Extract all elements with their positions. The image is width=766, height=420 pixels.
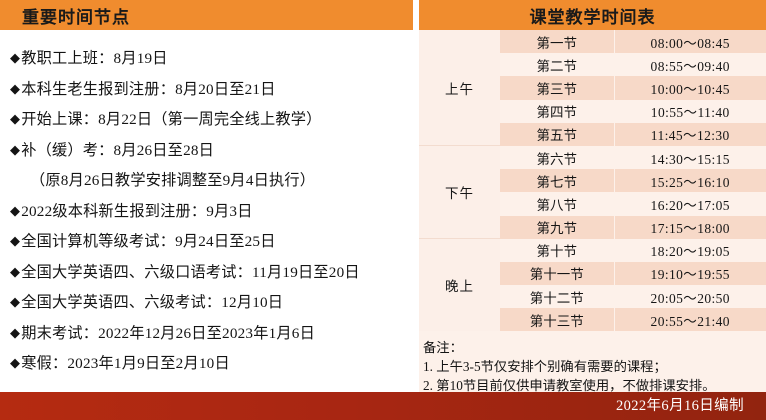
timeline-item-label: 教职工上班：8月19日 [21, 50, 167, 67]
schedule-period-label: 第九节 [500, 216, 614, 239]
timeline-item: ◆开始上课：8月22日（第一周完全线上教学） [10, 105, 413, 136]
timeline-item: ◆教职工上班：8月19日 [10, 44, 413, 75]
diamond-bullet-icon: ◆ [10, 325, 21, 340]
timeline-item: ◆2022级本科新生报到注册：9月3日 [10, 197, 413, 228]
timeline-item-label: 全国大学英语四、六级考试：12月10日 [21, 294, 283, 311]
timeline-item: ◆本科生老生报到注册：8月20日至21日 [10, 75, 413, 106]
schedule-time-range: 11:45～12:30 [614, 123, 766, 146]
schedule-time-range: 20:05～20:50 [614, 285, 766, 308]
timeline-item-label: 补（缓）考：8月26日至28日 [21, 142, 214, 159]
left-panel-header: 重要时间节点 [0, 0, 413, 30]
notes-section: 备注： 1. 上午3-5节仅安排个别确有需要的课程；2. 第10节目前仅供申请教… [419, 334, 766, 395]
schedule-time-range: 08:55～09:40 [614, 53, 766, 76]
right-panel-title: 课堂教学时间表 [530, 3, 656, 28]
schedule-period-label: 第七节 [500, 169, 614, 192]
diamond-bullet-icon: ◆ [10, 203, 21, 218]
schedule-row: 上午第一节08:00～08:45 [419, 30, 766, 53]
schedule-time-range: 10:55～11:40 [614, 100, 766, 123]
timeline-item-label: （原8月26日教学安排调整至9月4日执行） [30, 172, 315, 189]
timeline-item-label: 本科生老生报到注册：8月20日至21日 [21, 81, 275, 98]
schedule-time-range: 19:10～19:55 [614, 262, 766, 285]
class-schedule-table: 上午第一节08:00～08:45第二节08:55～09:40第三节10:00～1… [419, 30, 766, 331]
diamond-bullet-icon: ◆ [10, 50, 21, 65]
schedule-segment-label: 晚上 [419, 239, 500, 332]
timeline-item: ◆全国计算机等级考试：9月24日至25日 [10, 227, 413, 258]
diamond-bullet-icon: ◆ [10, 81, 21, 96]
timeline-item-label: 全国计算机等级考试：9月24日至25日 [21, 233, 275, 250]
schedule-period-label: 第一节 [500, 30, 614, 53]
header-bar: 重要时间节点 课堂教学时间表 [0, 0, 766, 30]
diamond-bullet-icon: ◆ [10, 111, 21, 126]
diamond-bullet-icon: ◆ [10, 355, 21, 370]
diamond-bullet-icon: ◆ [10, 264, 21, 279]
timeline-item: ◆补（缓）考：8月26日至28日 [10, 136, 413, 167]
diamond-bullet-icon: ◆ [10, 142, 21, 157]
schedule-period-label: 第四节 [500, 100, 614, 123]
right-panel-header: 课堂教学时间表 [419, 0, 766, 30]
schedule-period-label: 第三节 [500, 76, 614, 99]
schedule-table-body: 上午第一节08:00～08:45第二节08:55～09:40第三节10:00～1… [419, 30, 766, 331]
note-line: 1. 上午3-5节仅安排个别确有需要的课程； [423, 357, 760, 376]
timeline-item-label: 开始上课：8月22日（第一周完全线上教学） [21, 111, 321, 128]
notes-lines: 1. 上午3-5节仅安排个别确有需要的课程；2. 第10节目前仅供申请教室使用，… [423, 357, 760, 395]
schedule-period-label: 第十一节 [500, 262, 614, 285]
schedule-time-range: 10:00～10:45 [614, 76, 766, 99]
schedule-period-label: 第八节 [500, 192, 614, 215]
class-schedule-panel: 上午第一节08:00～08:45第二节08:55～09:40第三节10:00～1… [419, 30, 766, 392]
timeline-item: ◆全国大学英语四、六级口语考试：11月19日至20日 [10, 258, 413, 289]
diamond-bullet-icon: ◆ [10, 233, 21, 248]
schedule-period-label: 第六节 [500, 146, 614, 169]
schedule-time-range: 16:20～17:05 [614, 192, 766, 215]
schedule-period-label: 第五节 [500, 123, 614, 146]
schedule-time-range: 17:15～18:00 [614, 216, 766, 239]
timeline-item: ◆全国大学英语四、六级考试：12月10日 [10, 288, 413, 319]
schedule-period-label: 第十二节 [500, 285, 614, 308]
schedule-time-range: 08:00～08:45 [614, 30, 766, 53]
schedule-period-label: 第十三节 [500, 308, 614, 331]
schedule-time-range: 20:55～21:40 [614, 308, 766, 331]
schedule-time-range: 15:25～16:10 [614, 169, 766, 192]
schedule-time-range: 14:30～15:15 [614, 146, 766, 169]
timeline-item: ◆寒假：2023年1月9日至2月10日 [10, 349, 413, 380]
timeline-item-label: 寒假：2023年1月9日至2月10日 [21, 355, 230, 372]
timeline-item-label: 期末考试：2022年12月26日至2023年1月6日 [21, 325, 315, 342]
schedule-period-label: 第二节 [500, 53, 614, 76]
schedule-segment-label: 下午 [419, 146, 500, 239]
timeline-item: ◆期末考试：2022年12月26日至2023年1月6日 [10, 319, 413, 350]
timeline-item-label: 全国大学英语四、六级口语考试：11月19日至20日 [21, 264, 360, 281]
important-dates-panel: ◆教职工上班：8月19日◆本科生老生报到注册：8月20日至21日◆开始上课：8月… [0, 30, 413, 392]
schedule-time-range: 18:20～19:05 [614, 239, 766, 262]
footer-date-text: 2022年6月16日编制 [616, 392, 744, 420]
schedule-period-label: 第十节 [500, 239, 614, 262]
schedule-segment-label: 上午 [419, 30, 500, 146]
schedule-row: 晚上第十节18:20～19:05 [419, 239, 766, 262]
notes-title: 备注： [423, 338, 760, 357]
footer-bar: 2022年6月16日编制 [0, 392, 766, 420]
timeline-item: （原8月26日教学安排调整至9月4日执行） [10, 166, 413, 197]
timeline-item-label: 2022级本科新生报到注册：9月3日 [21, 203, 252, 220]
diamond-bullet-icon: ◆ [10, 294, 21, 309]
schedule-row: 下午第六节14:30～15:15 [419, 146, 766, 169]
timeline-list: ◆教职工上班：8月19日◆本科生老生报到注册：8月20日至21日◆开始上课：8月… [10, 44, 413, 380]
left-panel-title: 重要时间节点 [22, 3, 130, 28]
